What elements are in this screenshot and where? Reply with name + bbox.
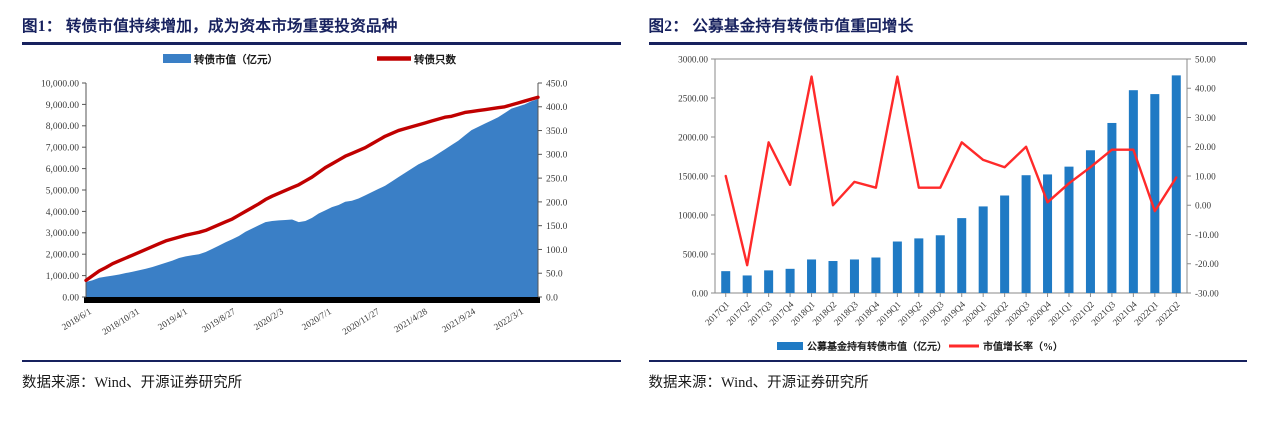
axis-tick-label: 2000.00 — [678, 132, 708, 142]
figure1-legend: 转债市值（亿元）转债只数 — [163, 53, 456, 66]
figure2-title: 图2： 公募基金持有转债市值重回增长 — [649, 0, 1248, 42]
axis-tick-label: 400.0 — [546, 103, 568, 113]
figure2-legend: 公募基金持有转债市值（亿元）市值增长率（%） — [777, 340, 1063, 353]
axis-tick-label: 3000.00 — [678, 54, 708, 64]
bar — [1085, 150, 1094, 293]
figure2-source: 数据来源：Wind、开源证券研究所 — [649, 362, 1248, 392]
axis-tick-label: 150.0 — [546, 222, 568, 232]
axis-tick-label: 1,000.00 — [46, 272, 80, 282]
axis-tick-label: 2018/10/31 — [100, 306, 141, 337]
axis-tick-label: 8,000.00 — [46, 122, 80, 132]
bar — [1128, 90, 1137, 293]
axis-tick-label: 10.00 — [1195, 171, 1216, 181]
figure1-chart: 转债市值（亿元）转债只数10,000.009,000.008,000.007,0… — [22, 45, 621, 360]
axis-tick-label: 10,000.00 — [41, 79, 79, 89]
axis-tick-label: 40.00 — [1195, 83, 1216, 93]
axis-tick-label: 0.00 — [1195, 200, 1211, 210]
axis-tick-label: 2500.00 — [678, 93, 708, 103]
axis-tick-label: 2019/4/1 — [156, 306, 189, 332]
report-figures-page: 图1： 转债市值持续增加，成为资本市场重要投资品种 转债市值（亿元）转债只数10… — [0, 0, 1269, 439]
axis-tick-label: 20.00 — [1195, 142, 1216, 152]
bar — [849, 259, 858, 293]
axis-tick-label: 公募基金持有转债市值（亿元） — [807, 340, 947, 353]
figure2-chart: 3000.002500.002000.001500.001000.00500.0… — [649, 45, 1248, 360]
bar — [871, 257, 880, 292]
axis-tick-label: 300.0 — [546, 150, 568, 160]
axis-tick-label: 450.0 — [546, 79, 568, 89]
axis-tick-label: -30.00 — [1195, 288, 1219, 298]
bar — [1021, 175, 1030, 293]
bar — [764, 270, 773, 293]
bar — [1000, 195, 1009, 293]
axis-tick-label: 2,000.00 — [46, 250, 80, 260]
bar — [1150, 94, 1159, 293]
axis-tick-label: 0.0 — [546, 293, 558, 303]
axis-tick-label: 5,000.00 — [46, 186, 80, 196]
axis-tick-label: 市值增长率（%） — [983, 340, 1063, 353]
axis-tick-label: 50.00 — [1195, 54, 1216, 64]
bar — [785, 268, 794, 292]
figure2-svg: 3000.002500.002000.001500.001000.00500.0… — [649, 45, 1247, 360]
axis-tick-label: 转债市值（亿元） — [194, 53, 278, 66]
figure1-panel: 图1： 转债市值持续增加，成为资本市场重要投资品种 转债市值（亿元）转债只数10… — [0, 0, 635, 439]
axis-tick-label: 9,000.00 — [46, 100, 80, 110]
axis-tick-label: -10.00 — [1195, 229, 1219, 239]
axis-tick-label: 200.0 — [546, 198, 568, 208]
bar — [1107, 122, 1116, 292]
axis-tick-label: 4,000.00 — [46, 207, 80, 217]
bar — [807, 259, 816, 293]
bar — [935, 235, 944, 293]
axis-tick-label: 6,000.00 — [46, 165, 80, 175]
axis-tick-label: 250.0 — [546, 174, 568, 184]
axis-tick-label: 2021/9/24 — [440, 306, 477, 334]
axis-tick-label: 2020/11/27 — [341, 306, 382, 337]
axis-tick-label: 2019/8/27 — [200, 306, 237, 334]
axis-tick-label: 2018/6/1 — [60, 306, 93, 332]
axis-tick-label: 100.0 — [546, 245, 568, 255]
axis-tick-label: 2022/3/1 — [492, 306, 525, 332]
legend-swatch-bar — [777, 342, 803, 350]
axis-tick-label: 2020/2/3 — [252, 306, 285, 332]
bar — [914, 238, 923, 293]
figure2-panel: 图2： 公募基金持有转债市值重回增长 3000.002500.002000.00… — [635, 0, 1269, 439]
axis-tick-label: 0.00 — [691, 288, 707, 298]
bar — [721, 271, 730, 293]
bar — [742, 275, 751, 293]
axis-tick-label: 2021/4/28 — [392, 306, 429, 334]
axis-tick-label: 500.00 — [682, 249, 708, 259]
bar — [978, 206, 987, 293]
axis-tick-label: 30.00 — [1195, 112, 1216, 122]
figure1-source: 数据来源：Wind、开源证券研究所 — [22, 362, 621, 392]
bar — [957, 218, 966, 293]
axis-tick-label: 转债只数 — [414, 53, 456, 66]
axis-tick-label: 2020/7/1 — [300, 306, 333, 332]
axis-tick-label: 1500.00 — [678, 171, 708, 181]
axis-tick-label: 50.0 — [546, 269, 563, 279]
figure1-svg: 转债市值（亿元）转债只数10,000.009,000.008,000.007,0… — [22, 45, 620, 360]
axis-tick-label: -20.00 — [1195, 259, 1219, 269]
axis-tick-label: 350.0 — [546, 126, 568, 136]
figure1-title: 图1： 转债市值持续增加，成为资本市场重要投资品种 — [22, 0, 621, 42]
axis-tick-label: 1000.00 — [678, 210, 708, 220]
axis-tick-label: 2022Q2 — [1153, 299, 1181, 327]
axis-tick-label: 0.00 — [62, 293, 79, 303]
bar — [828, 261, 837, 293]
axis-tick-label: 7,000.00 — [46, 143, 80, 153]
bar — [892, 241, 901, 292]
figure1-area-series — [86, 99, 538, 297]
axis-tick-label: 3,000.00 — [46, 229, 80, 239]
legend-swatch-area — [163, 54, 191, 63]
